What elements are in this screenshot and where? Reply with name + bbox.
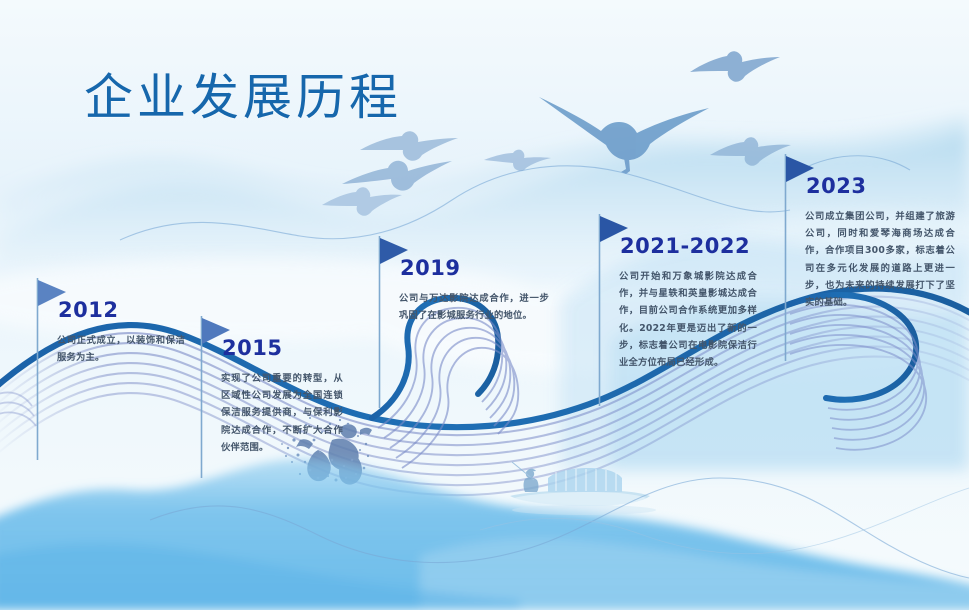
milestone-year: 2023 [806, 174, 866, 198]
milestone-description: 公司成立集团公司，并组建了旅游公司，同时和爱琴海商场达成合作，合作项目300多家… [805, 208, 955, 311]
page-title: 企业发展历程 [84, 58, 402, 129]
milestone-description: 公司正式成立，以装饰和保洁服务为主。 [57, 332, 185, 366]
milestone-description: 公司与万达影院达成合作，进一步巩固了在影城服务行业的地位。 [399, 290, 549, 324]
milestone-description: 公司开始和万象城影院达成合作，并与星轶和英皇影城达成合作，目前公司合作系统更加多… [619, 268, 757, 371]
milestone-year: 2015 [222, 336, 282, 360]
milestone-description: 实现了公司重要的转型，从区域性公司发展为全国连锁保洁服务提供商，与保利影院达成合… [221, 370, 343, 456]
milestone-year: 2019 [400, 256, 460, 280]
milestone-year: 2021-2022 [620, 234, 750, 258]
milestone-year: 2012 [58, 298, 118, 322]
timeline-poster: 企业发展历程 2012 公司正式成立，以装饰和保洁服务为主。 2015 实现了公… [0, 0, 969, 610]
